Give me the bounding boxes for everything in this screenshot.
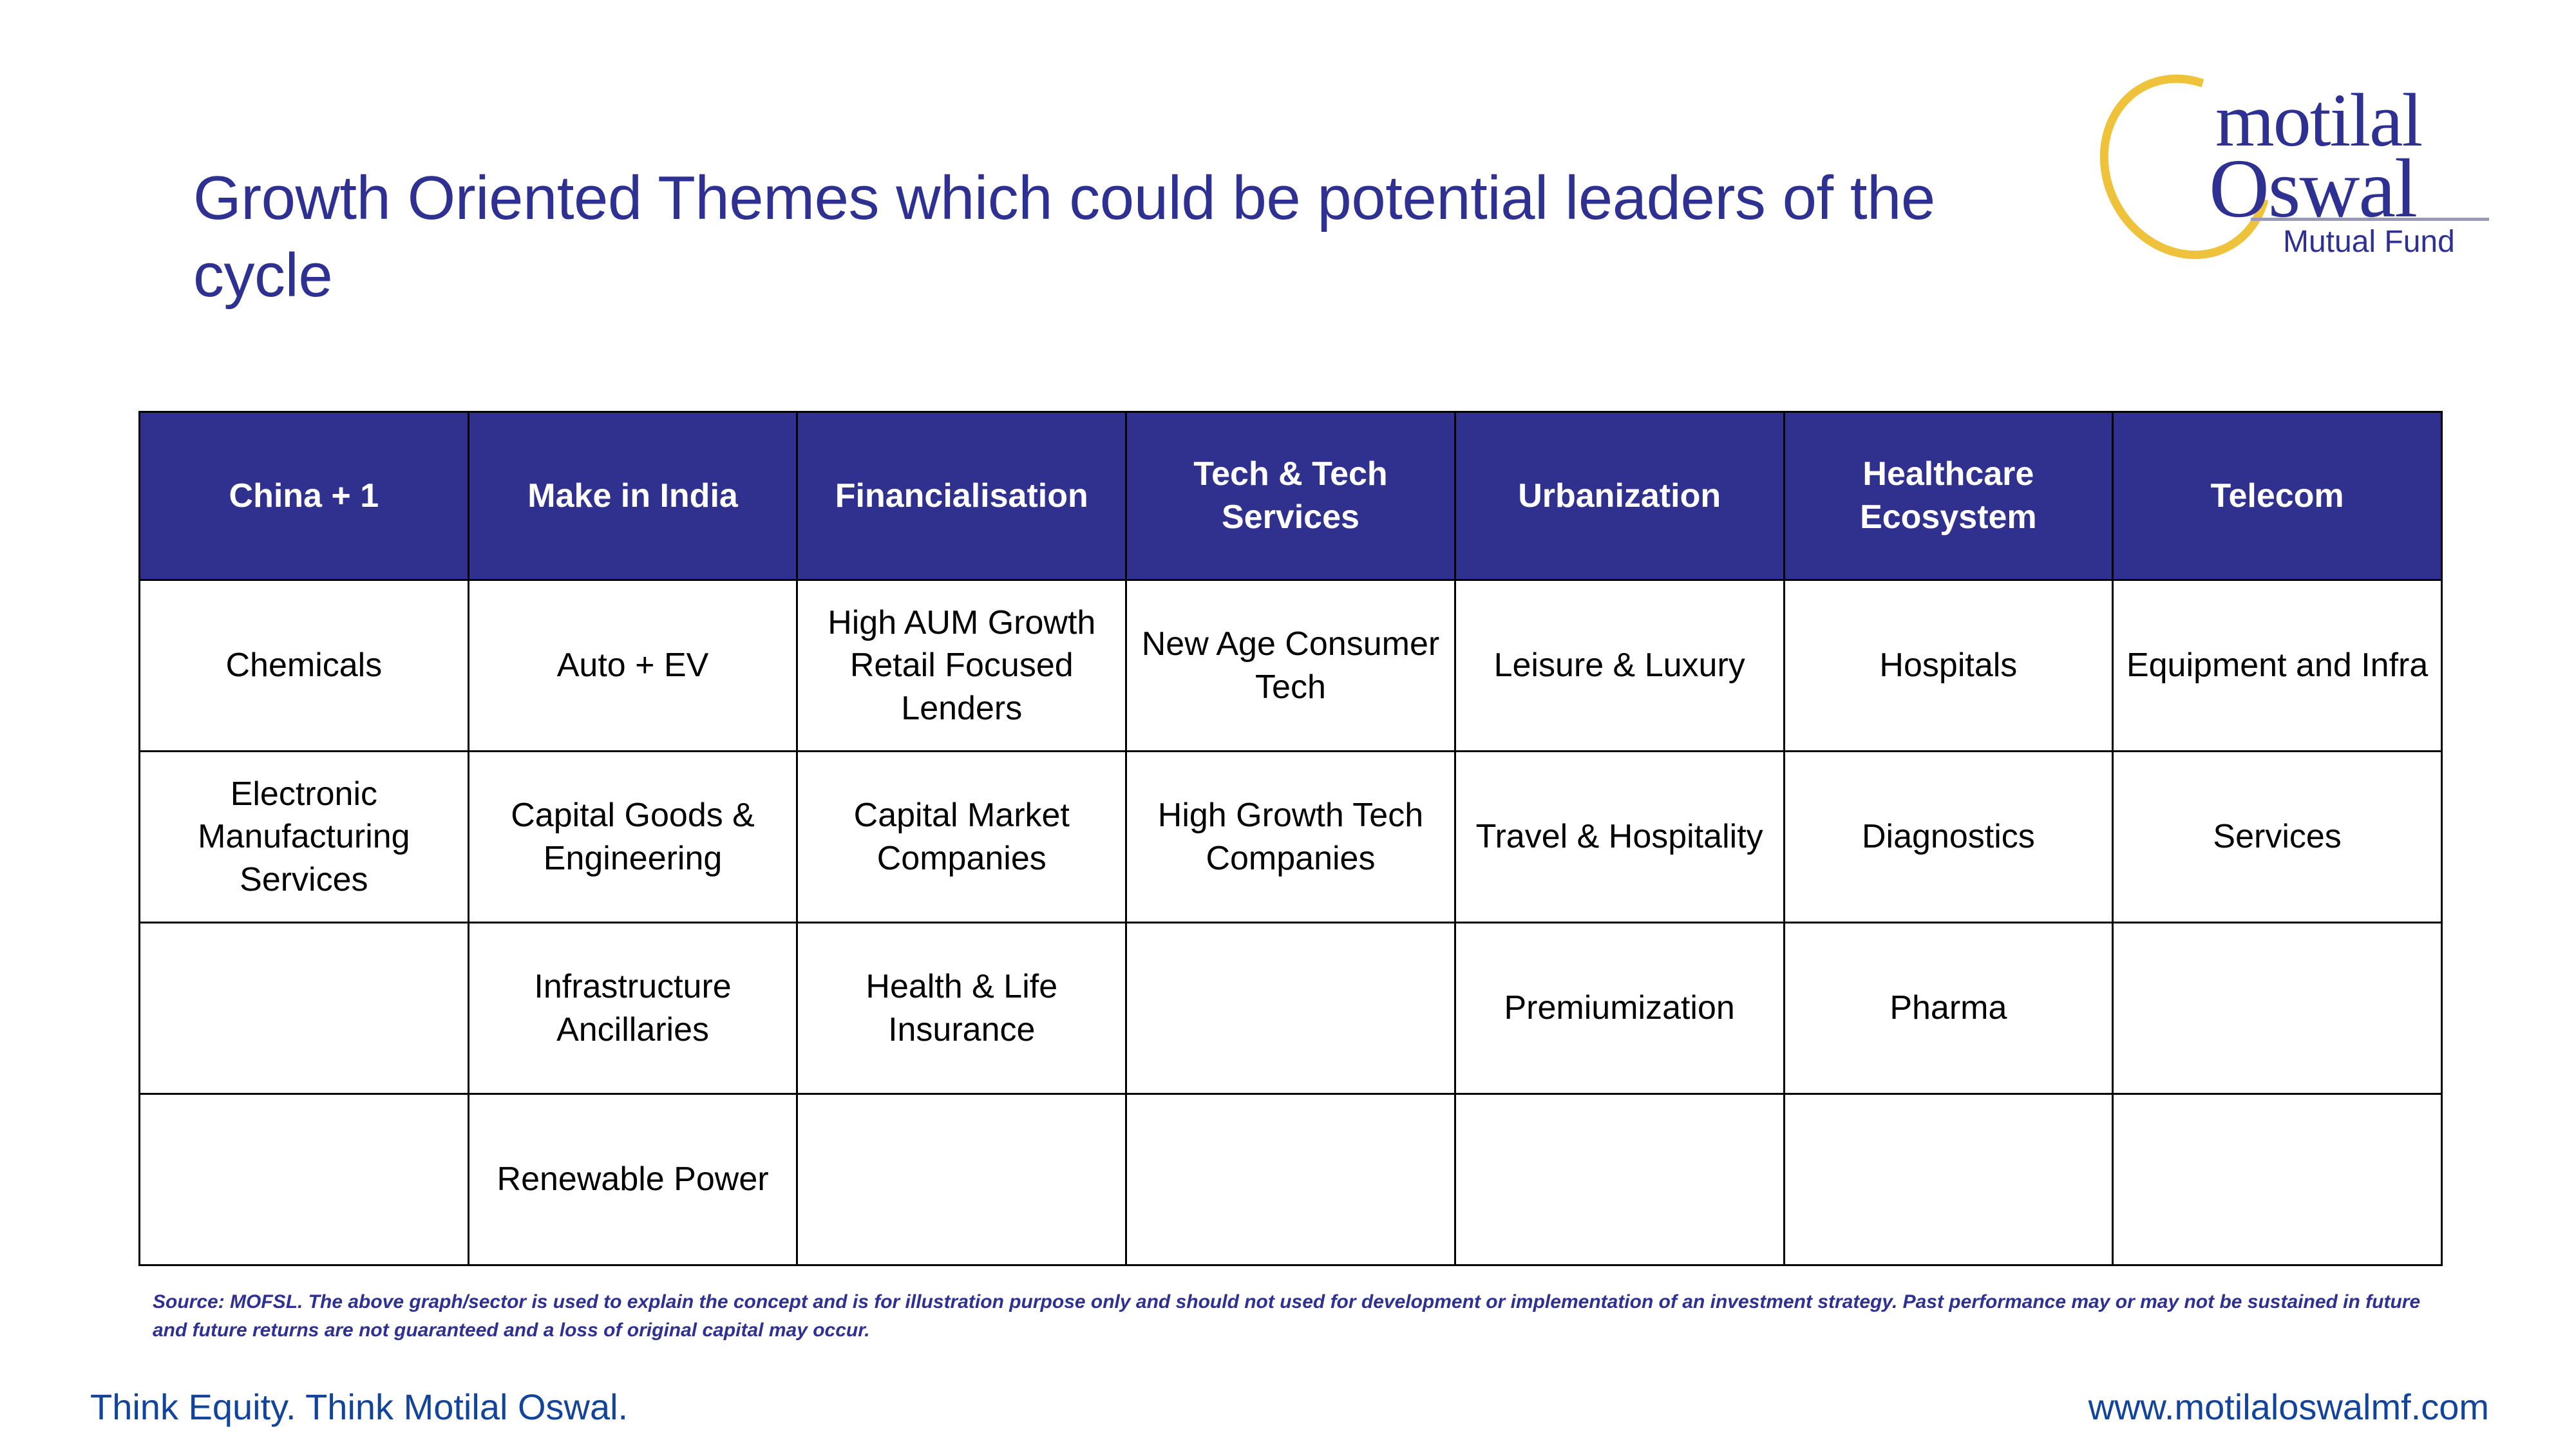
- themes-table: China + 1 Make in India Financialisation…: [138, 411, 2443, 1266]
- table-header-tech-and-tech-services: Tech & Tech Services: [1126, 412, 1455, 580]
- table-header-telecom: Telecom: [2113, 412, 2442, 580]
- table-cell: Auto + EV: [468, 580, 797, 752]
- table-header-financialisation: Financialisation: [797, 412, 1126, 580]
- table-header-make-in-india: Make in India: [468, 412, 797, 580]
- logo-tagline: Mutual Fund: [2283, 224, 2455, 260]
- table-header-urbanization: Urbanization: [1455, 412, 1784, 580]
- disclaimer-text: Source: MOFSL. The above graph/sector is…: [153, 1288, 2426, 1344]
- table-cell: [2113, 923, 2442, 1094]
- table-cell: Hospitals: [1784, 580, 2113, 752]
- table-cell: Electronic Manufacturing Services: [140, 752, 469, 923]
- table-header-healthcare-ecosystem: Healthcare Ecosystem: [1784, 412, 2113, 580]
- table-cell: [797, 1094, 1126, 1265]
- table-cell: Capital Market Companies: [797, 752, 1126, 923]
- table-cell: High AUM Growth Retail Focused Lenders: [797, 580, 1126, 752]
- logo-divider: [2251, 218, 2489, 221]
- table-cell: [1126, 1094, 1455, 1265]
- table-header-row: China + 1 Make in India Financialisation…: [140, 412, 2442, 580]
- table-cell: [1455, 1094, 1784, 1265]
- table-cell: Chemicals: [140, 580, 469, 752]
- table-cell: Premiumization: [1455, 923, 1784, 1094]
- table-cell: [1126, 923, 1455, 1094]
- table-cell: Diagnostics: [1784, 752, 2113, 923]
- table-row: Renewable Power: [140, 1094, 2442, 1265]
- table-cell: Pharma: [1784, 923, 2113, 1094]
- table-cell: Services: [2113, 752, 2442, 923]
- table-cell: High Growth Tech Companies: [1126, 752, 1455, 923]
- table-cell: Infrastructure Ancillaries: [468, 923, 797, 1094]
- table-cell: [1784, 1094, 2113, 1265]
- table-cell: [140, 1094, 469, 1265]
- table-cell: Travel & Hospitality: [1455, 752, 1784, 923]
- footer-website-link[interactable]: www.motilaloswalmf.com: [2088, 1386, 2489, 1428]
- table-cell: Equipment and Infra: [2113, 580, 2442, 752]
- table-cell: Renewable Power: [468, 1094, 797, 1265]
- table-cell: Leisure & Luxury: [1455, 580, 1784, 752]
- table-cell: New Age Consumer Tech: [1126, 580, 1455, 752]
- table-row: Chemicals Auto + EV High AUM Growth Reta…: [140, 580, 2442, 752]
- brand-logo: motilal Oswal Mutual Fund: [2096, 45, 2508, 251]
- page-title: Growth Oriented Themes which could be po…: [193, 160, 2061, 314]
- footer-tagline: Think Equity. Think Motilal Oswal.: [90, 1386, 628, 1428]
- table-header-china-plus-1: China + 1: [140, 412, 469, 580]
- table-row: Electronic Manufacturing Services Capita…: [140, 752, 2442, 923]
- table-cell: Health & Life Insurance: [797, 923, 1126, 1094]
- table-row: Infrastructure Ancillaries Health & Life…: [140, 923, 2442, 1094]
- table-cell: [140, 923, 469, 1094]
- table-cell: [2113, 1094, 2442, 1265]
- table-cell: Capital Goods & Engineering: [468, 752, 797, 923]
